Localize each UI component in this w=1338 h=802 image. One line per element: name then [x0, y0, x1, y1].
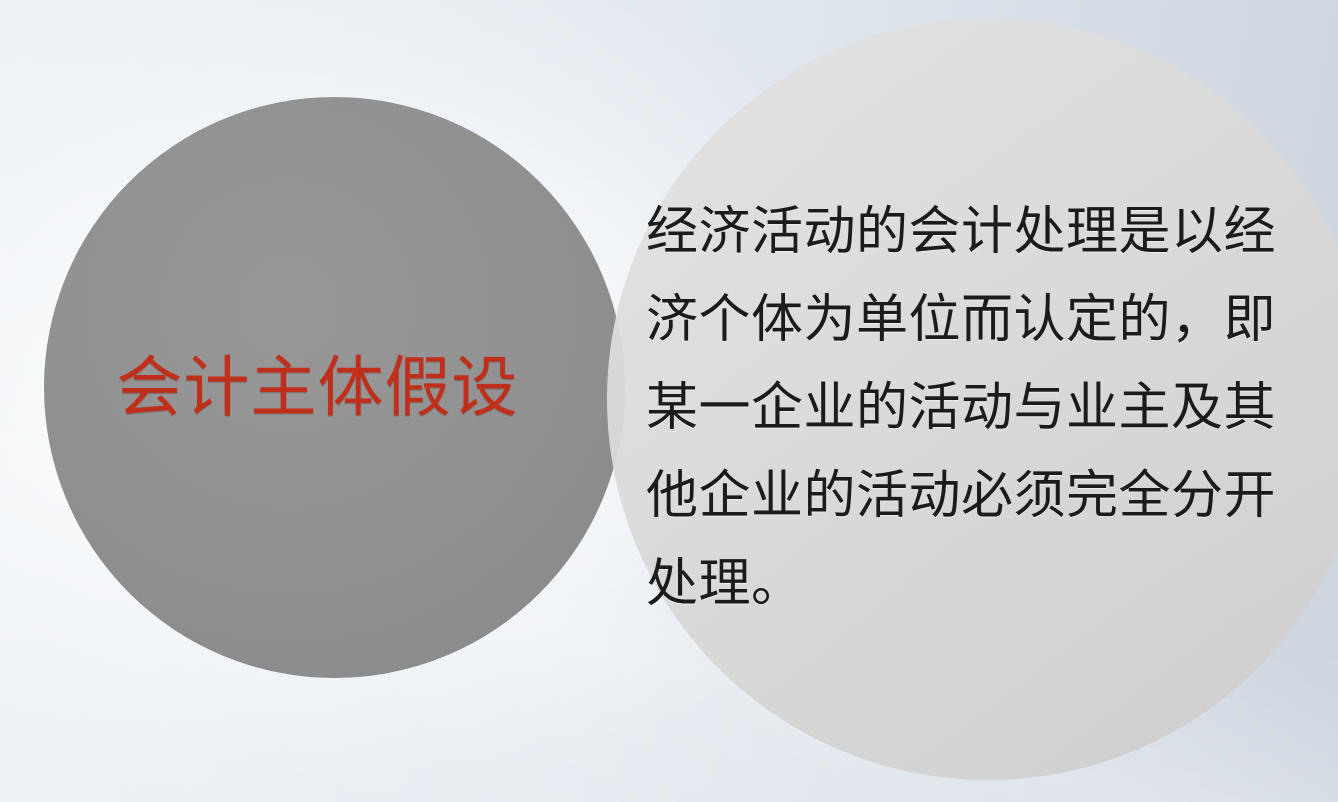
body-text-line: 某一企业的活动与业主及其: [646, 364, 1246, 452]
body-text-line: 处理。: [646, 540, 1246, 628]
title-circle-label-wrapper: 会计主体假设: [44, 97, 625, 678]
slide-canvas: 会计主体假设 经济活动的会计处理是以经 济个体为单位而认定的，即 某一企业的活动…: [0, 0, 1338, 802]
body-text-line: 经济活动的会计处理是以经: [646, 188, 1246, 276]
body-text-line: 他企业的活动必须完全分开: [646, 452, 1246, 540]
body-text-line: 济个体为单位而认定的，即: [646, 276, 1246, 364]
title-circle-label: 会计主体假设: [117, 351, 519, 425]
body-circle-text: 经济活动的会计处理是以经 济个体为单位而认定的，即 某一企业的活动与业主及其 他…: [646, 188, 1246, 628]
